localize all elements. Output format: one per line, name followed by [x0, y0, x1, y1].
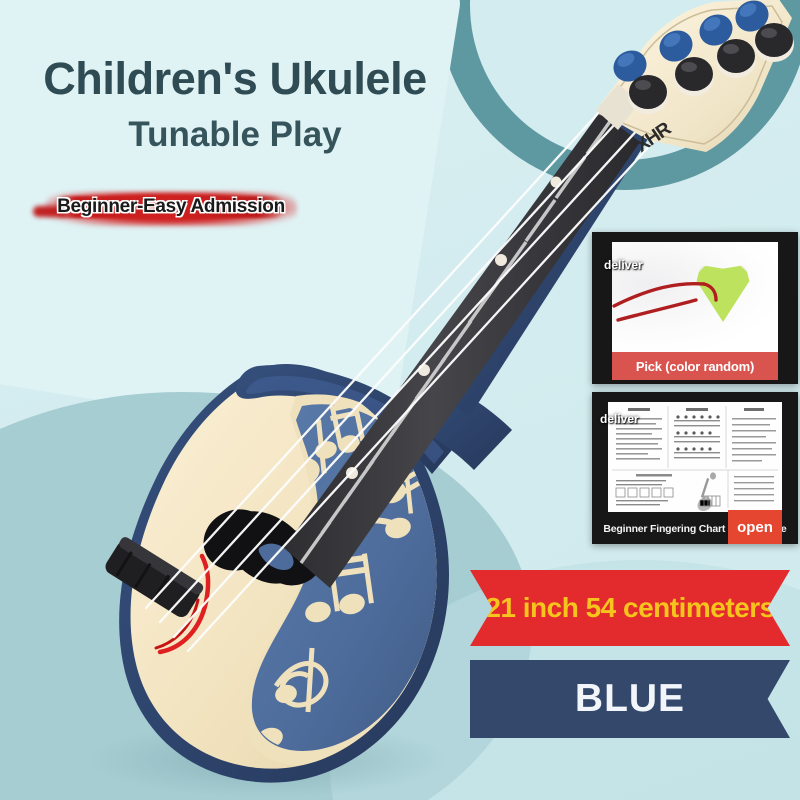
- deliver-label-pick: deliver: [604, 258, 643, 272]
- open-badge[interactable]: open: [728, 510, 782, 544]
- color-ribbon: BLUE: [470, 660, 790, 738]
- size-ribbon-label: 21 inch 54 centimeters: [485, 592, 774, 624]
- color-ribbon-label: BLUE: [575, 677, 685, 721]
- inset-panel-pick[interactable]: Pick (color random): [592, 232, 798, 384]
- pick-caption: Pick (color random): [612, 352, 778, 380]
- deliver-label-chart: deliver: [600, 412, 639, 426]
- product-image-canvas: Children's Ukulele Tunable Play Beginner…: [0, 0, 800, 800]
- size-ribbon: 21 inch 54 centimeters: [470, 570, 790, 646]
